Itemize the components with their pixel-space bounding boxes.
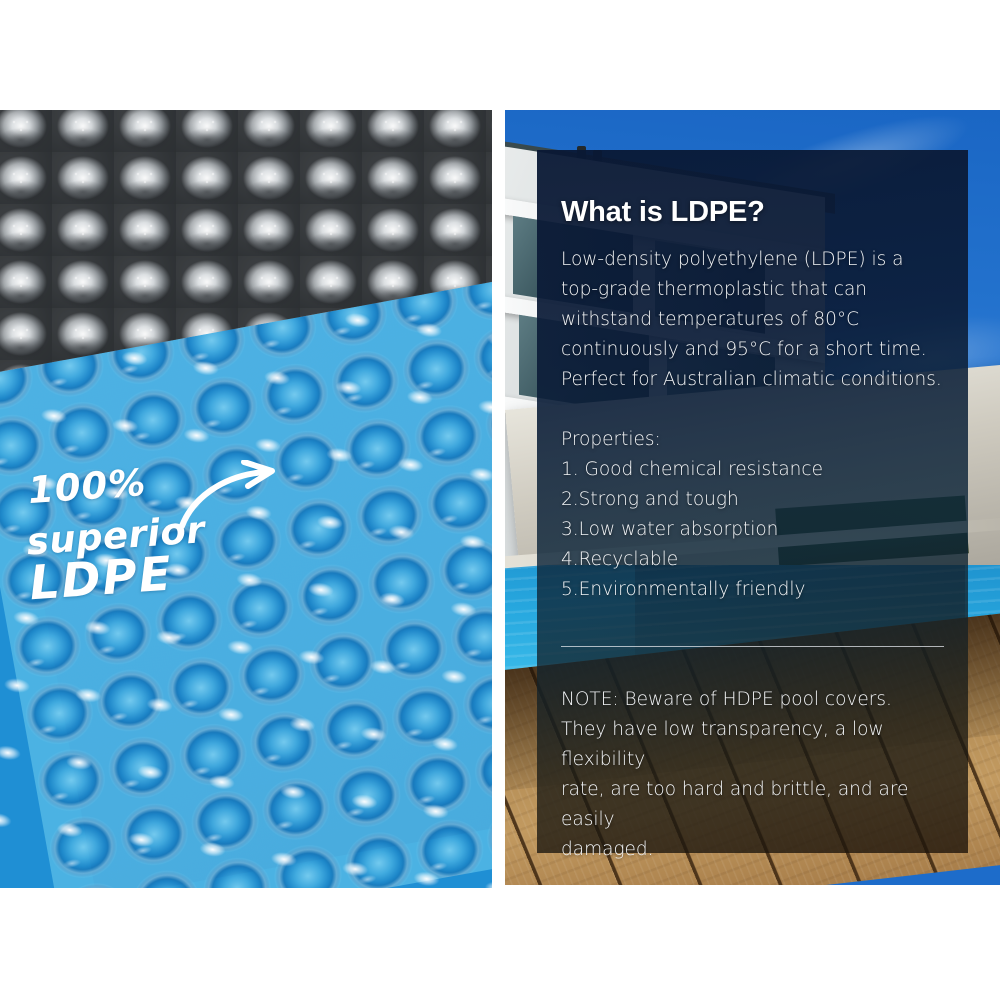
properties-list: 1. Good chemical resistance 2.Strong and… — [561, 455, 944, 605]
info-card: What is LDPE? Low-density polyethylene (… — [537, 150, 968, 853]
section-divider — [561, 646, 944, 647]
property-item: 3.Low water absorption — [561, 515, 944, 545]
card-intro-paragraph: Low-density polyethylene (LDPE) is a top… — [561, 245, 944, 395]
card-note-paragraph: NOTE: Beware of HDPE pool covers. They h… — [561, 685, 944, 865]
card-title: What is LDPE? — [561, 196, 944, 229]
property-item: 2.Strong and tough — [561, 485, 944, 515]
right-info-image: What is LDPE? Low-density polyethylene (… — [505, 110, 1000, 885]
properties-heading: Properties: — [561, 425, 944, 455]
property-item: 5.Environmentally friendly — [561, 575, 944, 605]
product-infographic: 100% superior LDPE — [0, 0, 1000, 1000]
property-item: 4.Recyclable — [561, 545, 944, 575]
property-item: 1. Good chemical resistance — [561, 455, 944, 485]
left-product-image: 100% superior LDPE — [0, 110, 492, 888]
